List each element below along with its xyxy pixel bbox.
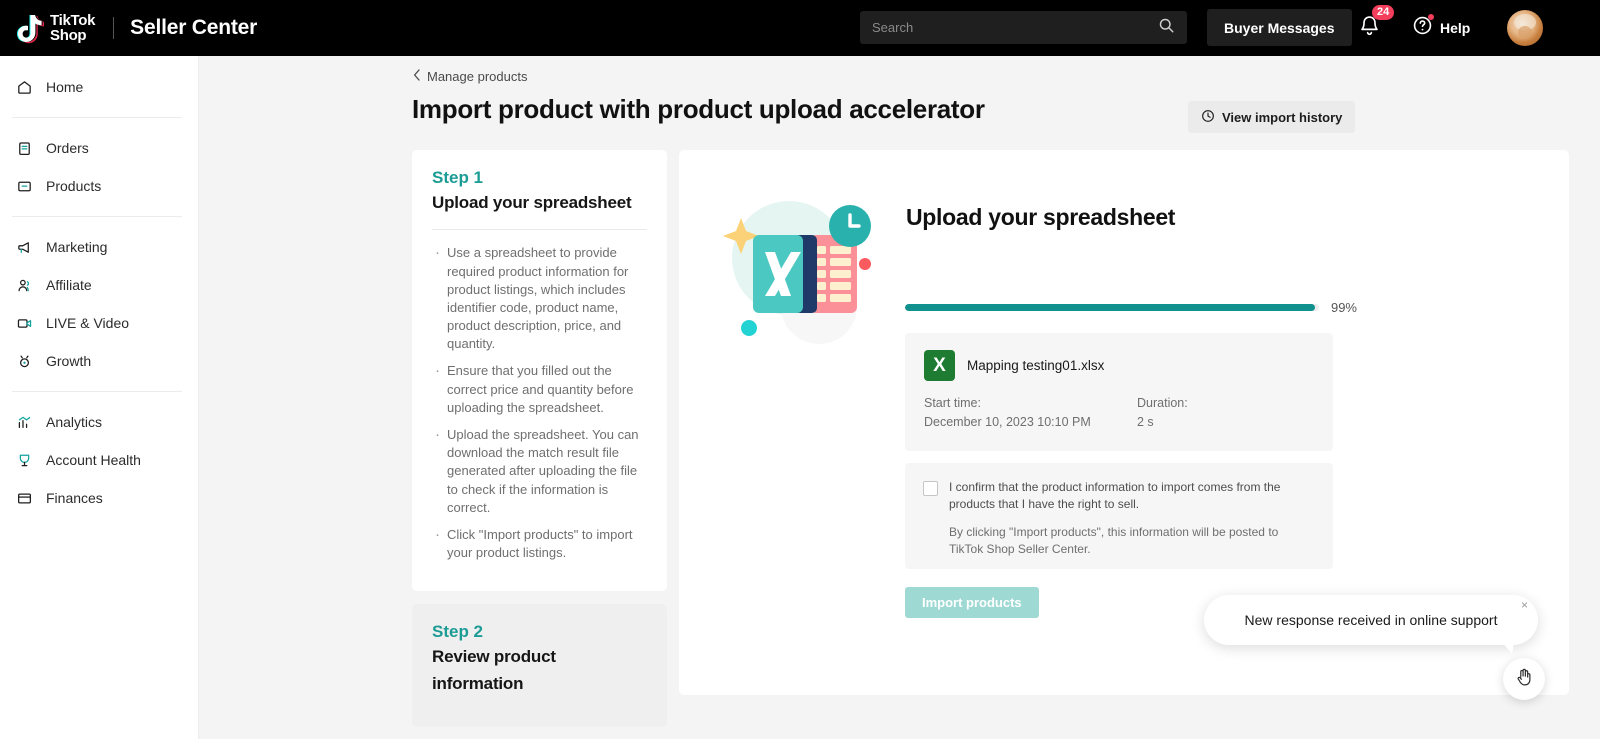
help-label: Help bbox=[1440, 20, 1470, 36]
upload-progress: 99% bbox=[905, 300, 1357, 315]
notification-badge-count: 24 bbox=[1372, 5, 1394, 20]
sidebar-item-analytics[interactable]: Analytics bbox=[0, 403, 198, 441]
trophy-growth-icon bbox=[16, 353, 33, 370]
confirmation-card: I confirm that the product information t… bbox=[905, 463, 1333, 569]
sidebar-item-label: LIVE & Video bbox=[46, 315, 129, 331]
duration-label: Duration: bbox=[1137, 396, 1188, 410]
home-icon bbox=[16, 79, 33, 96]
sidebar-item-label: Account Health bbox=[46, 452, 141, 468]
step-2-kicker: Step 2 bbox=[432, 622, 647, 642]
page-title: Import product with product upload accel… bbox=[412, 94, 985, 125]
help-unread-dot bbox=[1428, 14, 1434, 20]
step-1-kicker: Step 1 bbox=[432, 168, 647, 188]
wallet-icon bbox=[16, 490, 33, 507]
tiktok-note-icon bbox=[14, 12, 44, 44]
sidebar-nav: Home Orders Products Marketing bbox=[0, 56, 199, 739]
panel-title: Upload your spreadsheet bbox=[906, 204, 1175, 231]
search-box[interactable] bbox=[860, 11, 1187, 44]
progress-percent-label: 99% bbox=[1331, 300, 1357, 315]
progress-track bbox=[905, 304, 1319, 311]
legal-disclaimer-text: By clicking "Import products", this info… bbox=[949, 524, 1315, 557]
buyer-messages-button[interactable]: Buyer Messages bbox=[1207, 9, 1352, 46]
step-1-bullet: Click "Import products" to import your p… bbox=[432, 526, 647, 562]
progress-fill bbox=[905, 304, 1315, 311]
sidebar-item-label: Products bbox=[46, 178, 101, 194]
start-time-value: December 10, 2023 10:10 PM bbox=[924, 415, 1137, 429]
user-avatar[interactable] bbox=[1507, 10, 1543, 46]
view-import-history-label: View import history bbox=[1222, 110, 1342, 125]
import-products-button[interactable]: Import products bbox=[905, 587, 1039, 618]
step-1-bullet: Upload the spreadsheet. You can download… bbox=[432, 426, 647, 517]
sidebar-item-label: Growth bbox=[46, 353, 91, 369]
step-1-bullets: Use a spreadsheet to provide required pr… bbox=[432, 244, 647, 562]
breadcrumb[interactable]: Manage products bbox=[413, 69, 527, 84]
support-toast[interactable]: New response received in online support … bbox=[1204, 595, 1538, 645]
sidebar-item-orders[interactable]: Orders bbox=[0, 129, 198, 167]
tiktok-shop-logo[interactable]: TikTok Shop Seller Center bbox=[0, 12, 257, 44]
step-1-bullet: Ensure that you filled out the correct p… bbox=[432, 362, 647, 417]
start-time-block: Start time: December 10, 2023 10:10 PM bbox=[924, 396, 1137, 429]
spreadsheet-upload-illustration bbox=[697, 178, 887, 363]
video-icon bbox=[16, 315, 33, 332]
sidebar-item-label: Finances bbox=[46, 490, 103, 506]
help-button[interactable]: Help bbox=[1412, 15, 1470, 41]
brand-name-line1: TikTok bbox=[50, 13, 95, 28]
confirm-checkbox[interactable] bbox=[923, 481, 938, 496]
sidebar-item-label: Affiliate bbox=[46, 277, 92, 293]
view-import-history-button[interactable]: View import history bbox=[1188, 101, 1355, 133]
search-icon[interactable] bbox=[1158, 17, 1175, 39]
step-card-divider bbox=[432, 229, 647, 230]
step-1-bullet: Use a spreadsheet to provide required pr… bbox=[432, 244, 647, 353]
app-name: Seller Center bbox=[130, 16, 257, 40]
megaphone-icon bbox=[16, 239, 33, 256]
people-icon bbox=[16, 277, 33, 294]
hand-cursor-icon bbox=[1513, 666, 1535, 693]
sidebar-item-label: Analytics bbox=[46, 414, 102, 430]
sidebar-item-growth[interactable]: Growth bbox=[0, 342, 198, 380]
sidebar-item-label: Home bbox=[46, 79, 83, 95]
sidebar-item-account-health[interactable]: Account Health bbox=[0, 441, 198, 479]
clipboard-icon bbox=[16, 140, 33, 157]
sidebar-item-marketing[interactable]: Marketing bbox=[0, 228, 198, 266]
steps-column: Step 1 Upload your spreadsheet Use a spr… bbox=[412, 150, 667, 727]
sidebar-item-finances[interactable]: Finances bbox=[0, 479, 198, 517]
top-header-bar: TikTok Shop Seller Center Buyer Messages… bbox=[0, 0, 1600, 56]
duration-block: Duration: 2 s bbox=[1137, 396, 1188, 429]
sidebar-item-products[interactable]: Products bbox=[0, 167, 198, 205]
sidebar-item-label: Orders bbox=[46, 140, 89, 156]
search-input[interactable] bbox=[872, 20, 1158, 35]
step-2-name: Review product information bbox=[432, 644, 647, 697]
step-2-card[interactable]: Step 2 Review product information bbox=[412, 604, 667, 727]
sidebar-item-home[interactable]: Home bbox=[0, 68, 198, 106]
uploaded-file-name: Mapping testing01.xlsx bbox=[967, 358, 1104, 373]
step-1-card: Step 1 Upload your spreadsheet Use a spr… bbox=[412, 150, 667, 591]
notifications-button[interactable]: 24 bbox=[1358, 14, 1381, 44]
bell-icon[interactable] bbox=[1358, 26, 1381, 43]
box-icon bbox=[16, 178, 33, 195]
support-chat-fab[interactable] bbox=[1503, 658, 1545, 700]
brand-name-line2: Shop bbox=[50, 28, 95, 43]
toast-message: New response received in online support bbox=[1245, 612, 1498, 628]
clock-icon bbox=[1201, 109, 1215, 126]
excel-file-icon: X bbox=[924, 350, 955, 381]
close-icon[interactable]: × bbox=[1521, 599, 1528, 611]
step-1-name: Upload your spreadsheet bbox=[432, 190, 647, 216]
sidebar-divider bbox=[12, 391, 182, 392]
sidebar-item-affiliate[interactable]: Affiliate bbox=[0, 266, 198, 304]
start-time-label: Start time: bbox=[924, 396, 1137, 410]
uploaded-file-card: X Mapping testing01.xlsx Start time: Dec… bbox=[905, 333, 1333, 451]
sidebar-divider bbox=[12, 117, 182, 118]
sidebar-divider bbox=[12, 216, 182, 217]
sidebar-item-label: Marketing bbox=[46, 239, 107, 255]
sidebar-item-live-video[interactable]: LIVE & Video bbox=[0, 304, 198, 342]
logo-divider bbox=[113, 17, 114, 39]
chevron-left-icon bbox=[413, 69, 421, 84]
shield-award-icon bbox=[16, 452, 33, 469]
duration-value: 2 s bbox=[1137, 415, 1188, 429]
bar-chart-icon bbox=[16, 414, 33, 431]
confirm-text: I confirm that the product information t… bbox=[949, 479, 1315, 512]
breadcrumb-label: Manage products bbox=[427, 69, 527, 84]
